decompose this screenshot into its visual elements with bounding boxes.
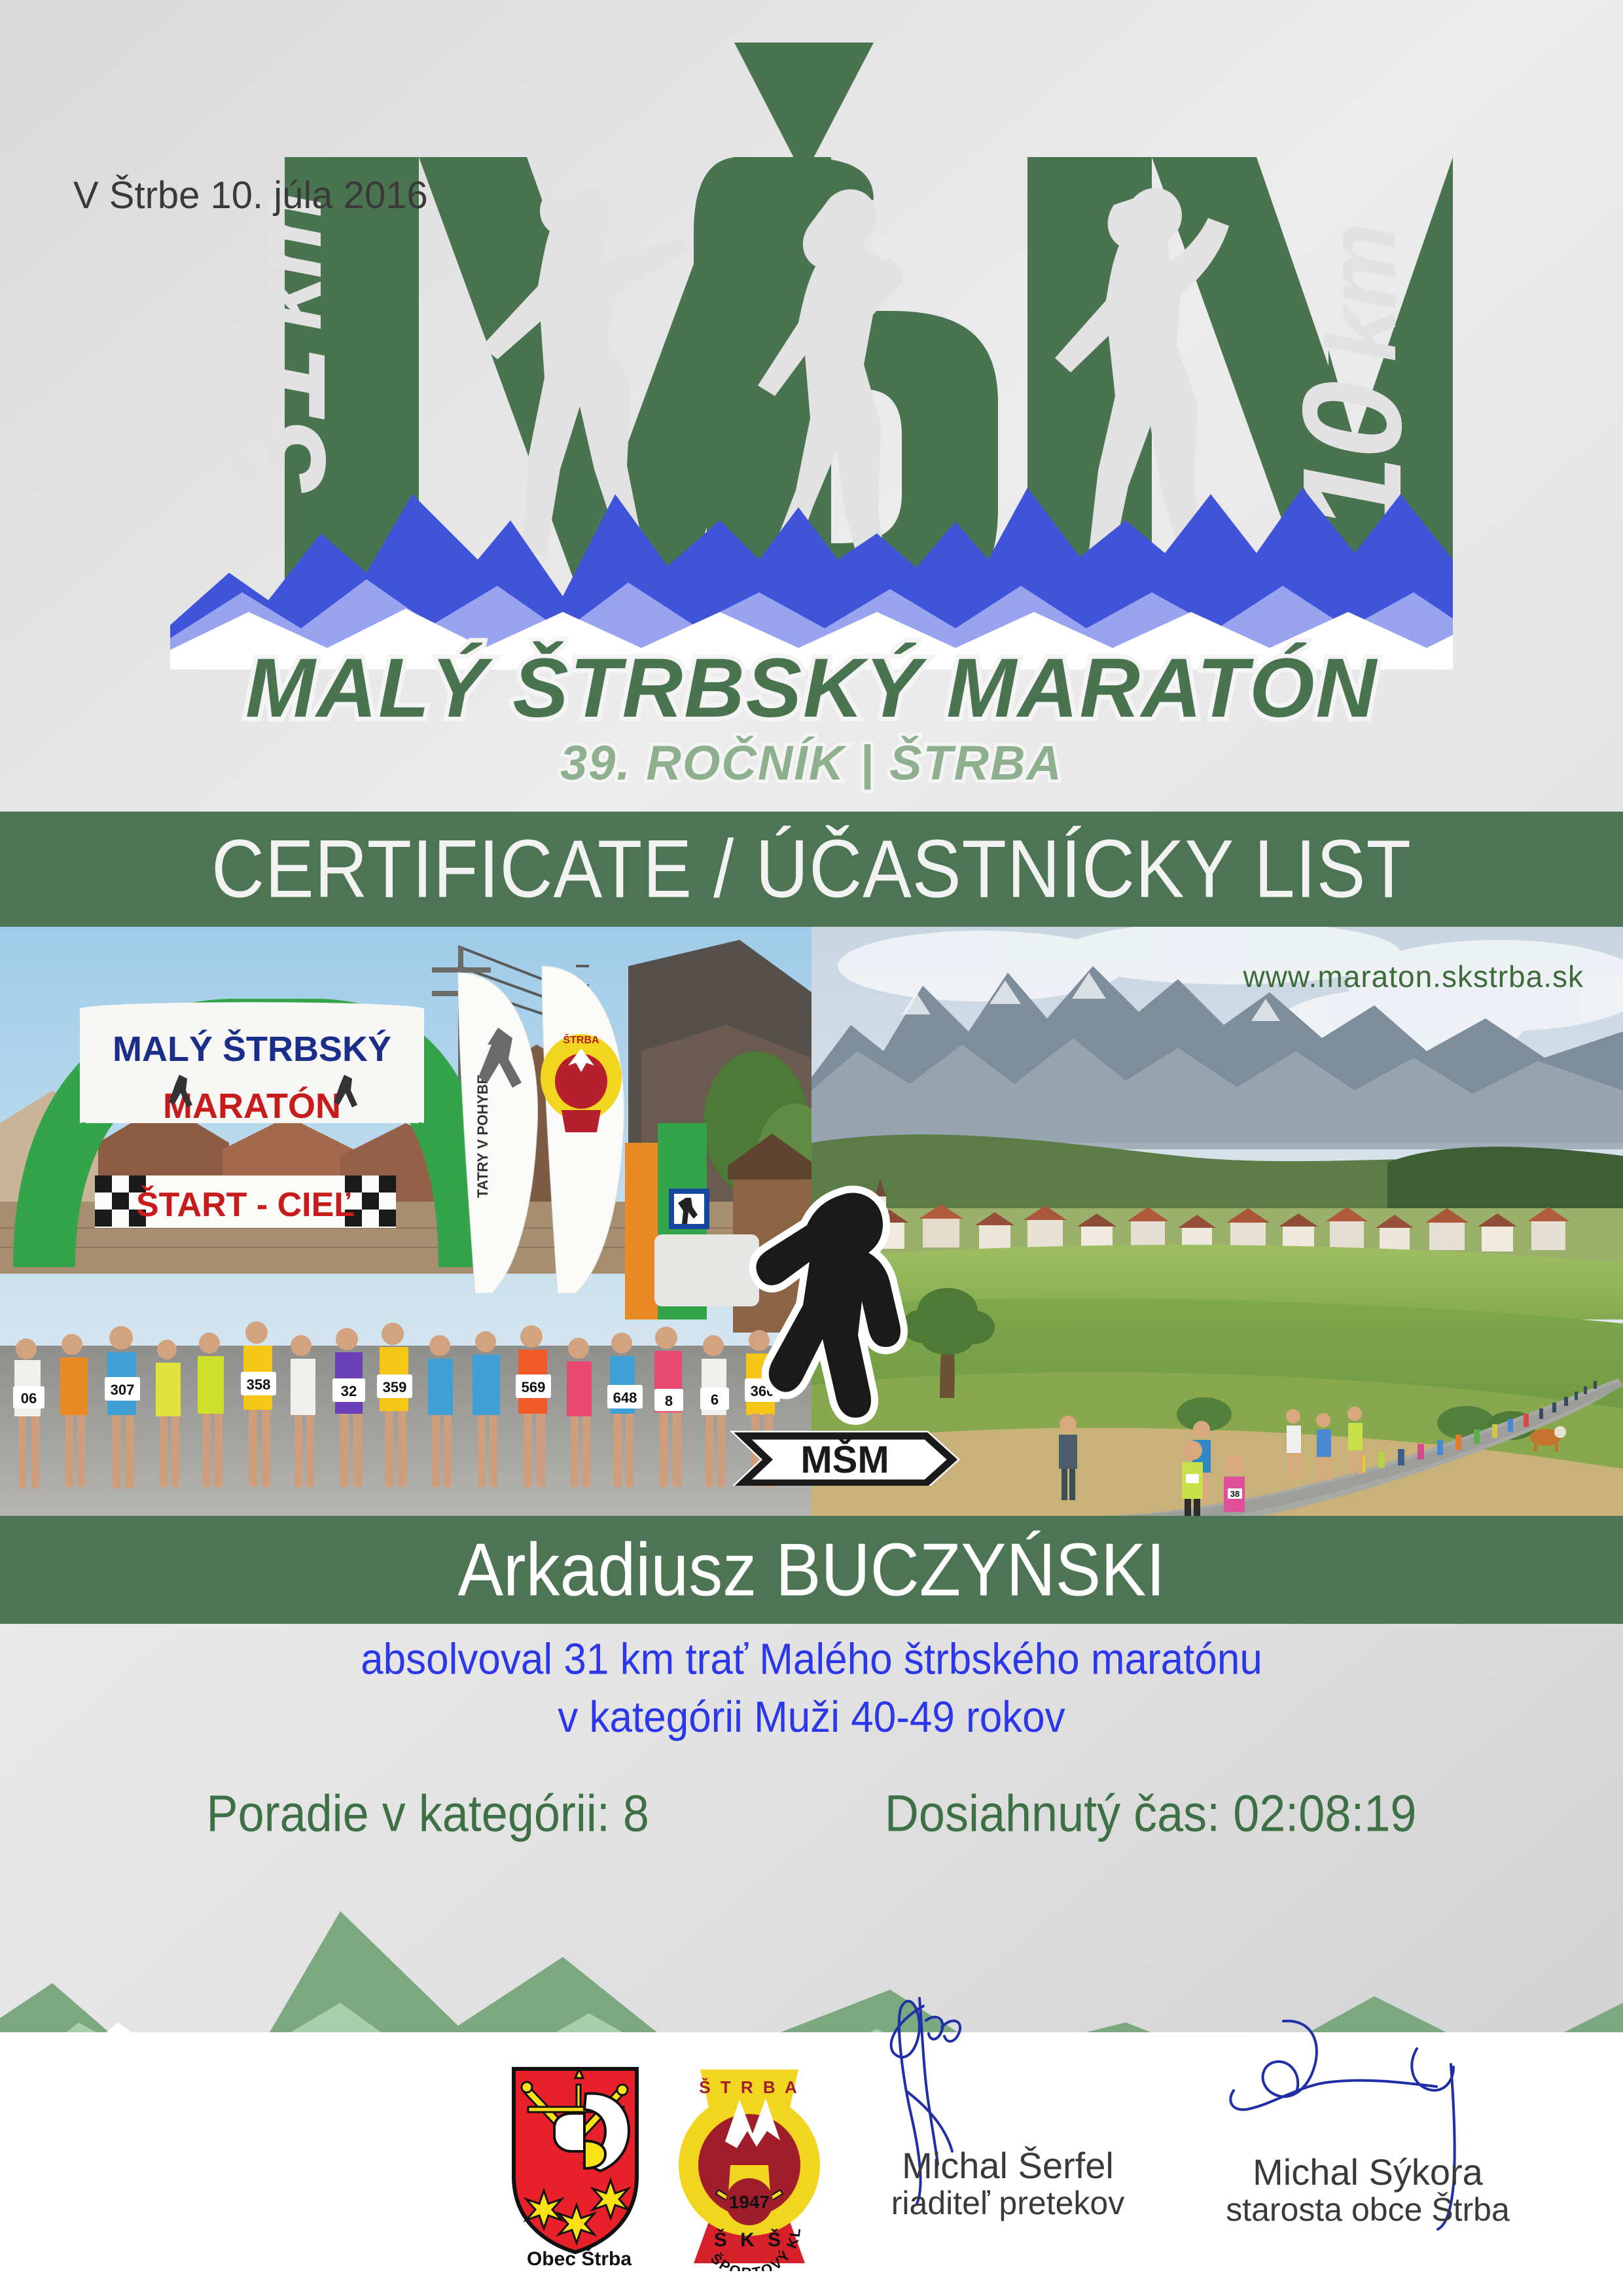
club-abbrev: Š K Š [714, 2229, 785, 2251]
bib-number: 8 [665, 1393, 673, 1409]
bib-number: 359 [383, 1379, 407, 1395]
participant-name: Arkadiusz BUCZYŃSKI [458, 1532, 1166, 1607]
bib-number: 358 [247, 1376, 271, 1393]
photo-landscape: 38 [811, 927, 1623, 1516]
arch-line-1: MALÝ ŠTRBSKÝ [113, 1029, 391, 1069]
bib-number: 360 [751, 1383, 775, 1399]
photo-strip: MALÝ ŠTRBSKÝ MARATÓN [0, 927, 1623, 1516]
website-url: www.maraton.skstrba.sk [1243, 960, 1584, 994]
start-finish-banner: ŠTART - CIEĽ [136, 1185, 355, 1224]
category-rank: Poradie v kategórii: 8 [207, 1787, 649, 1839]
signature-block-mayor: Michal Sýkora starosta obce Štrba [1198, 2153, 1538, 2228]
bib-number: 32 [341, 1383, 357, 1399]
certificate-page: 31 km 10 km [0, 0, 1623, 2296]
event-title: MALÝ ŠTRBSKÝ MARATÓN [245, 641, 1378, 735]
bib-number: 38 [1230, 1489, 1240, 1499]
signature-block-race-director: Michal Šerfel riaditeľ pretekov [838, 2147, 1178, 2221]
certificate-title-band: CERTIFICATE / ÚČASTNÍCKY LIST [0, 812, 1623, 927]
detail-line-2: v kategórii Muži 40-49 rokov [0, 1689, 1623, 1746]
flag-text: TATRY V POHYBE [474, 1075, 491, 1198]
sks-club-badge: 1947 Š T R B A Š K Š ŠPORTOVÝ KLUB [674, 2055, 825, 2271]
club-year: 1947 [729, 2192, 770, 2212]
header-logo-area: 31 km 10 km [0, 0, 1623, 812]
finish-time: Dosiahnutý čas: 02:08:19 [885, 1787, 1417, 1839]
signature-name: Michal Šerfel [838, 2147, 1178, 2185]
svg-text:ŠTRBA: ŠTRBA [563, 1033, 599, 1046]
crest-caption: Obec Štrba [527, 2248, 632, 2268]
bib-number: 06 [21, 1390, 37, 1407]
bib-number: 6 [711, 1391, 719, 1408]
issue-date: V Štrbe 10. júla 2016 [73, 173, 428, 217]
signature-role: riaditeľ pretekov [838, 2185, 1178, 2221]
obec-strba-crest: Obec Štrba [507, 2065, 651, 2268]
club-top-text: Š T R B A [699, 2077, 799, 2097]
signature-name: Michal Sýkora [1198, 2153, 1538, 2192]
event-edition: 39. ROČNÍK | ŠTRBA [560, 736, 1063, 790]
detail-line-1: absolvoval 31 km trať Malého štrbského m… [0, 1630, 1623, 1688]
msm-logo: 31 km 10 km [170, 36, 1453, 795]
svg-text:31: 31 [200, 349, 354, 494]
photo-start-line: MALÝ ŠTRBSKÝ MARATÓN [0, 927, 811, 1516]
bib-number: 307 [111, 1382, 135, 1398]
participant-name-band: Arkadiusz BUCZYŃSKI [0, 1516, 1623, 1624]
results-row: Poradie v kategórii: 8 Dosiahnutý čas: 0… [0, 1787, 1623, 1839]
bib-number: 648 [613, 1390, 637, 1406]
participation-details: absolvoval 31 km trať Malého štrbského m… [0, 1630, 1623, 1746]
certificate-title: CERTIFICATE / ÚČASTNÍCKY LIST [211, 828, 1412, 910]
signature-role: starosta obce Štrba [1198, 2192, 1538, 2228]
svg-text:km: km [1306, 225, 1416, 362]
bib-number: 569 [522, 1379, 546, 1395]
